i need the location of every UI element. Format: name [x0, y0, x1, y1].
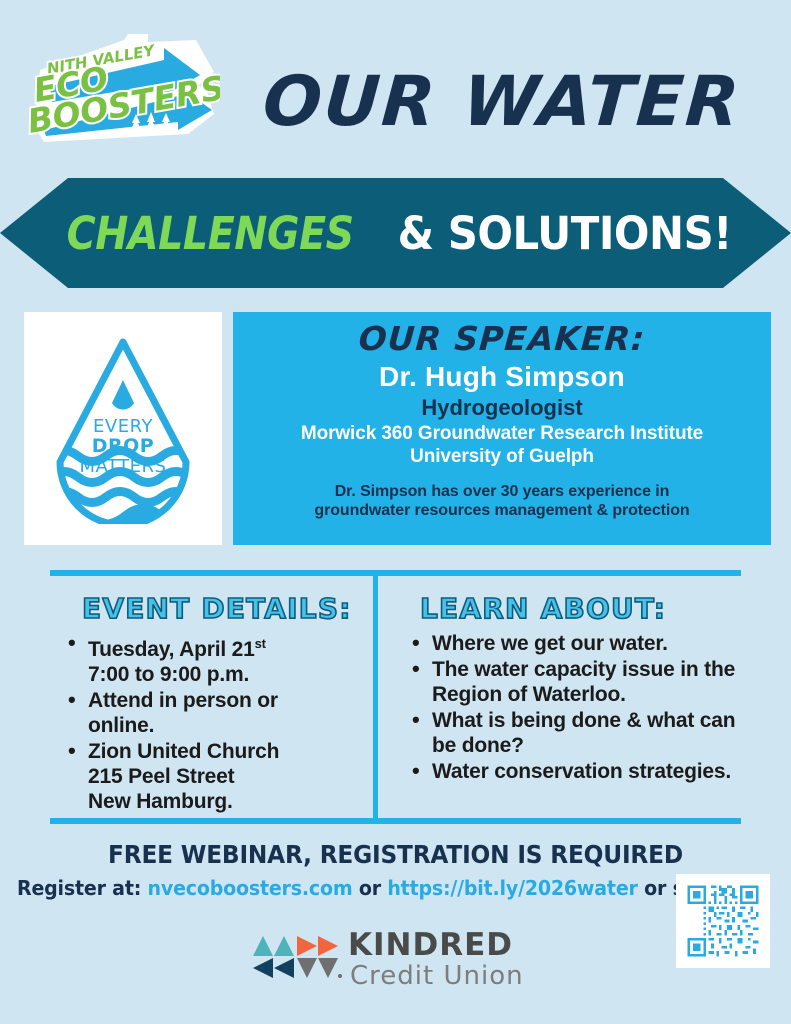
footer-headline: FREE WEBINAR, REGISTRATION IS REQUIRED: [28, 840, 764, 869]
water-drop-icon: EVERY DROP MATTERS: [48, 334, 198, 524]
poster-root: NITH VALLEY ECO BOOSTERS OUR WATER CHALL…: [0, 0, 791, 1024]
divider-vertical: [373, 570, 378, 824]
register-separator: or: [352, 876, 387, 900]
speaker-name: Dr. Hugh Simpson: [233, 360, 771, 394]
list-item: Where we get our water.: [404, 631, 754, 656]
speaker-bio: Dr. Simpson has over 30 years experience…: [233, 482, 771, 520]
speaker-bio-line-2: groundwater resources management & prote…: [233, 501, 771, 520]
date-superscript: st: [255, 636, 266, 651]
list-item: The water capacity issue in the Region o…: [404, 657, 754, 707]
event-time: 7:00 to 9:00 p.m.: [88, 663, 249, 686]
speaker-heading: OUR SPEAKER:: [232, 318, 773, 360]
event-details-list: Tuesday, April 21st 7:00 to 9:00 p.m. At…: [60, 631, 365, 814]
registration-qr-code[interactable]: [676, 874, 770, 968]
banner-rest-text: & SOLUTIONS!: [398, 207, 732, 260]
event-attendance-line-2: online.: [88, 714, 154, 737]
venue-city: New Hamburg.: [88, 790, 233, 813]
challenges-solutions-banner: CHALLENGES & SOLUTIONS!: [0, 178, 791, 288]
speaker-bio-line-1: Dr. Simpson has over 30 years experience…: [233, 482, 771, 501]
kindred-credit-union-logo: KINDRED Credit Union: [250, 922, 550, 994]
speaker-info-card: OUR SPEAKER: Dr. Hugh Simpson Hydrogeolo…: [233, 312, 771, 545]
speaker-organization-line-1: Morwick 360 Groundwater Research Institu…: [233, 422, 771, 445]
qr-code-icon: [685, 883, 761, 959]
venue-street: 215 Peel Street: [88, 765, 234, 788]
event-date: Tuesday, April 21: [88, 638, 255, 661]
learn-about-heading: LEARN ABOUT:: [404, 592, 754, 625]
banner-text: CHALLENGES & SOLUTIONS!: [0, 178, 791, 288]
register-prefix: Register at:: [17, 876, 148, 900]
drop-line-2: DROP: [92, 435, 154, 457]
registration-link-shorturl[interactable]: https://bit.ly/2026water: [387, 876, 637, 900]
venue-name: Zion United Church: [88, 740, 279, 763]
event-details-column: EVENT DETAILS: Tuesday, April 21st 7:00 …: [60, 592, 365, 815]
divider-top: [50, 570, 741, 576]
divider-bottom: [50, 818, 741, 824]
banner-highlight-word: CHALLENGES: [66, 207, 353, 260]
every-drop-matters-card: EVERY DROP MATTERS: [24, 312, 222, 545]
list-item: Tuesday, April 21st 7:00 to 9:00 p.m.: [60, 631, 365, 687]
sponsor-line-2: Credit Union: [350, 961, 524, 991]
speaker-role: Hydrogeologist: [233, 394, 771, 422]
poster-header: NITH VALLEY ECO BOOSTERS OUR WATER: [0, 0, 791, 172]
speaker-organization-line-2: University of Guelph: [233, 445, 771, 468]
list-item: Zion United Church 215 Peel Street New H…: [60, 739, 365, 814]
learn-about-list: Where we get our water. The water capaci…: [404, 631, 754, 784]
learn-about-column: LEARN ABOUT: Where we get our water. The…: [404, 592, 754, 785]
page-title: OUR WATER: [229, 52, 776, 152]
event-attendance-line-1: Attend in person or: [88, 689, 278, 712]
event-details-heading: EVENT DETAILS:: [60, 592, 365, 625]
registration-line: Register at: nvecoboosters.com or https:…: [17, 876, 663, 900]
list-item: Water conservation strategies.: [404, 759, 754, 784]
list-item: What is being done & what can be done?: [404, 708, 754, 758]
speaker-section: EVERY DROP MATTERS OUR SPEAKER: Dr. Hugh…: [0, 312, 791, 545]
registration-link-website[interactable]: nvecoboosters.com: [148, 876, 353, 900]
sponsor-line-1: KINDRED: [348, 927, 513, 963]
nith-valley-eco-boosters-logo: NITH VALLEY ECO BOOSTERS: [28, 30, 220, 148]
drop-line-3: MATTERS: [80, 456, 167, 477]
drop-line-1: EVERY: [93, 416, 153, 437]
list-item: Attend in person or online.: [60, 688, 365, 738]
